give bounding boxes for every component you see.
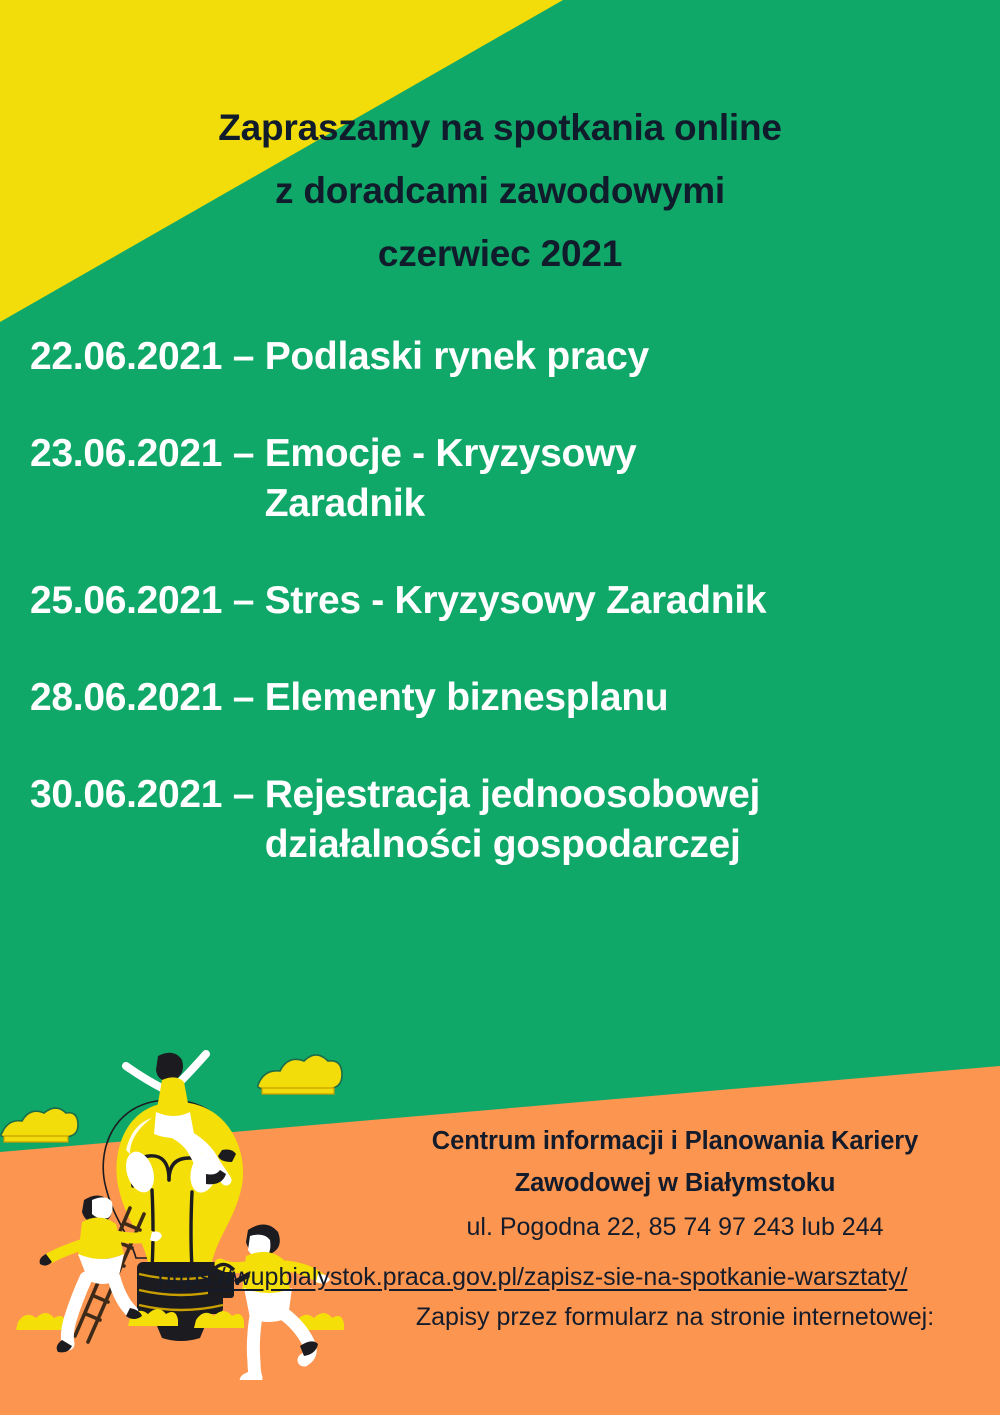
registration-link[interactable]: https://wupbialystok.praca.gov.pl/zapisz… — [65, 1259, 1000, 1295]
event-date: 30.06.2021 — [30, 773, 222, 816]
title-line-1: Zapraszamy na spotkania online — [0, 96, 1000, 159]
cloud-icon — [1, 1108, 78, 1142]
cloud-icon — [258, 1055, 342, 1094]
event-separator: – — [233, 335, 254, 378]
event-title: Stres - Kryzysowy Zaradnik — [265, 576, 767, 626]
woman-with-watering-can — [208, 1224, 330, 1380]
poster-canvas: Zapraszamy na spotkania online z doradca… — [0, 0, 1000, 1415]
event-date: 22.06.2021 — [30, 335, 222, 378]
event-title: Elementy biznesplanu — [265, 673, 669, 723]
event-separator: – — [233, 676, 254, 719]
event-separator: – — [233, 579, 254, 622]
schedule-item: 30.06.2021 – Rejestracja jednoosobowej d… — [30, 770, 975, 870]
event-separator: – — [233, 432, 254, 475]
signup-note: Zapisy przez formularz na stronie intern… — [355, 1298, 995, 1336]
schedule-item: 25.06.2021 – Stres - Kryzysowy Zaradnik — [30, 576, 975, 626]
schedule-list: 22.06.2021 – Podlaski rynek pracy 23.06.… — [30, 332, 975, 870]
address-line: ul. Pogodna 22, 85 74 97 243 lub 244 — [355, 1206, 995, 1248]
event-separator: – — [233, 773, 254, 816]
lightbulb-illustration — [0, 1040, 370, 1380]
title-line-3: czerwiec 2021 — [0, 222, 1000, 285]
poster-title: Zapraszamy na spotkania online z doradca… — [0, 96, 1000, 285]
schedule-item: 22.06.2021 – Podlaski rynek pracy — [30, 332, 975, 382]
schedule-item: 23.06.2021 – Emocje - Kryzysowy Zaradnik — [30, 429, 975, 529]
event-date: 23.06.2021 — [30, 432, 222, 475]
event-title: Rejestracja jednoosobowej działalności g… — [265, 770, 760, 870]
event-title: Emocje - Kryzysowy Zaradnik — [265, 429, 637, 529]
footer-contact-block: Centrum informacji i Planowania Kariery … — [355, 1120, 995, 1336]
event-date: 25.06.2021 — [30, 579, 222, 622]
title-line-2: z doradcami zawodowymi — [0, 159, 1000, 222]
organisation-line-2: Zawodowej w Białymstoku — [355, 1162, 995, 1204]
schedule-item: 28.06.2021 – Elementy biznesplanu — [30, 673, 975, 723]
organisation-line-1: Centrum informacji i Planowania Kariery — [355, 1120, 995, 1162]
event-date: 28.06.2021 — [30, 676, 222, 719]
event-title: Podlaski rynek pracy — [265, 332, 649, 382]
